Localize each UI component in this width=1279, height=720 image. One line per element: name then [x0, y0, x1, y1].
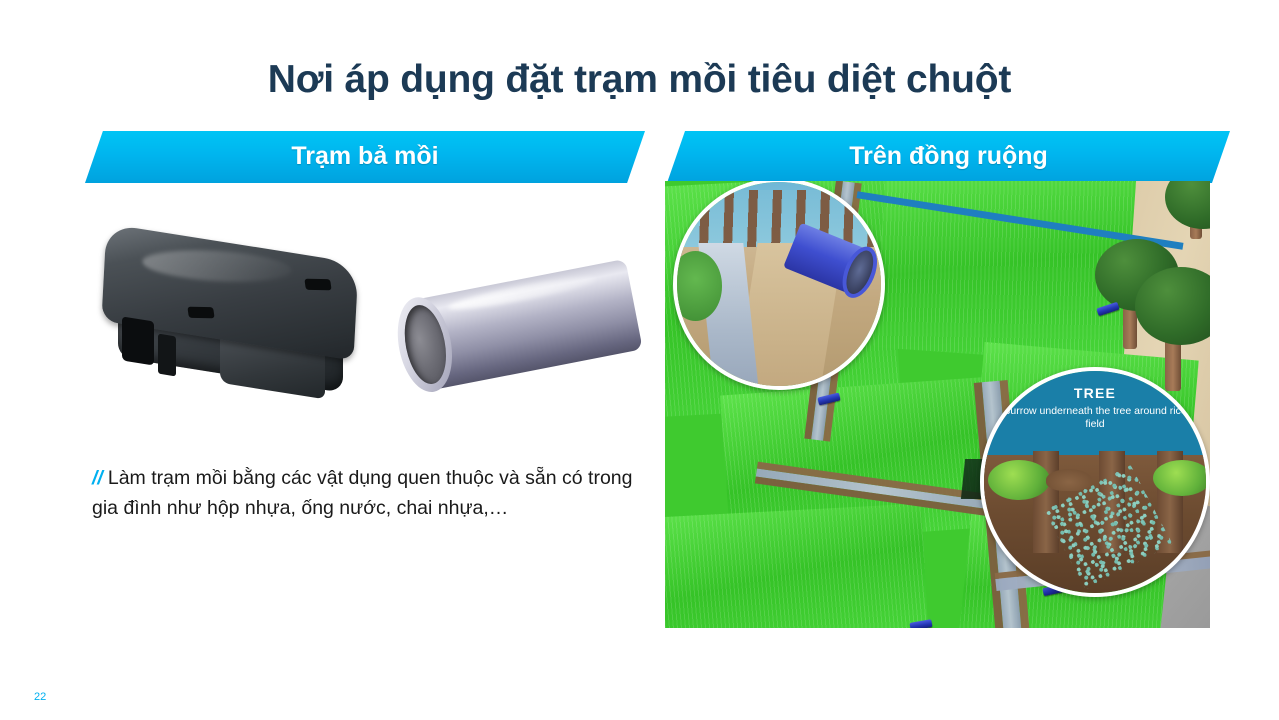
rice-field-illustration: RTP Powder TREE Burrow underneath the tr…: [665, 181, 1210, 628]
body-paragraph-text: Làm trạm mồi bằng các vật dụng quen thuộ…: [92, 467, 633, 519]
inset-grass-tuft: [673, 251, 722, 320]
canal-pipe-inset: [673, 181, 885, 390]
product-illustration-area: [85, 215, 645, 430]
page-title: Nơi áp dụng đặt trạm mồi tiêu diệt chuột: [0, 58, 1279, 102]
banner-right-label: Trên đồng ruộng: [849, 142, 1048, 173]
body-paragraph: //Làm trạm mồi bằng các vật dụng quen th…: [92, 463, 637, 523]
tree-inset-header: TREE Burrow underneath the tree around r…: [984, 371, 1206, 460]
grey-pvc-pipe-image: [383, 239, 648, 413]
page-number: 22: [34, 691, 46, 703]
banner-left-label: Trạm bả mồi: [291, 142, 438, 173]
bait-box-latch-slot-front: [187, 307, 214, 319]
tree-burrow-inset: TREE Burrow underneath the tree around r…: [980, 367, 1210, 597]
bullet-marker-icon: //: [92, 467, 103, 489]
banner-tram-ba-moi: Trạm bả mồi: [85, 131, 645, 183]
banner-tren-dong-ruong: Trên đồng ruộng: [667, 131, 1230, 183]
bait-box-entry-hole-second: [158, 334, 176, 377]
tree-inset-title: TREE: [984, 385, 1206, 401]
tree-inset-subtitle: Burrow underneath the tree around rice f…: [984, 405, 1206, 431]
bait-box-entry-hole: [122, 316, 154, 365]
tree-inset-bush-right: [1153, 460, 1210, 496]
bait-box-latch-slot-rear: [304, 279, 331, 291]
tree-inset-bush-left: [988, 460, 1050, 500]
paddy-field-5: [665, 504, 928, 628]
slide-canvas: Nơi áp dụng đặt trạm mồi tiêu diệt chuột…: [0, 0, 1279, 720]
black-bait-station-box-image: [100, 235, 365, 400]
